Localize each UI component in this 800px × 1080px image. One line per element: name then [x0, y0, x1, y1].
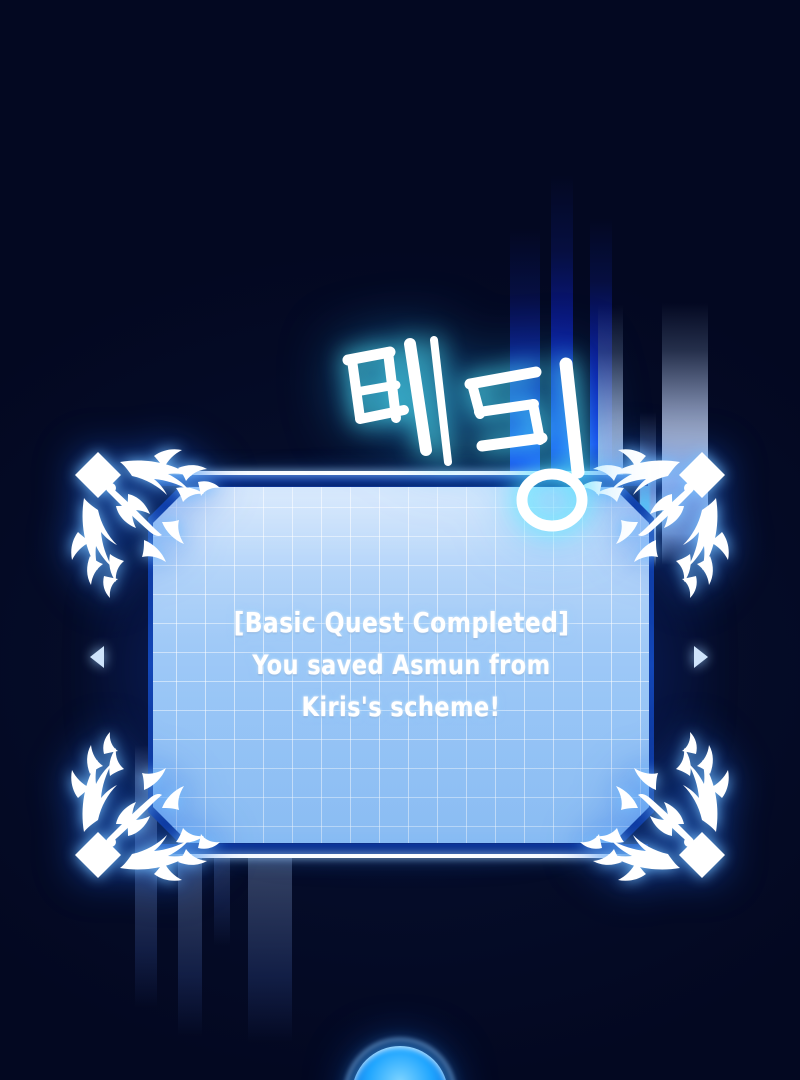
message-line-title: [Basic Quest Completed]	[233, 603, 569, 644]
message-line-3: Kiris's scheme!	[302, 688, 501, 727]
notification-scene: [Basic Quest Completed] You saved Asmun …	[0, 0, 800, 1080]
quest-completion-panel[interactable]: [Basic Quest Completed] You saved Asmun …	[62, 440, 738, 890]
arrow-left-icon[interactable]	[90, 646, 104, 668]
message-line-2: You saved Asmun from	[252, 646, 550, 685]
arrow-right-icon[interactable]	[694, 646, 708, 668]
message-text-block: [Basic Quest Completed] You saved Asmun …	[148, 482, 654, 848]
